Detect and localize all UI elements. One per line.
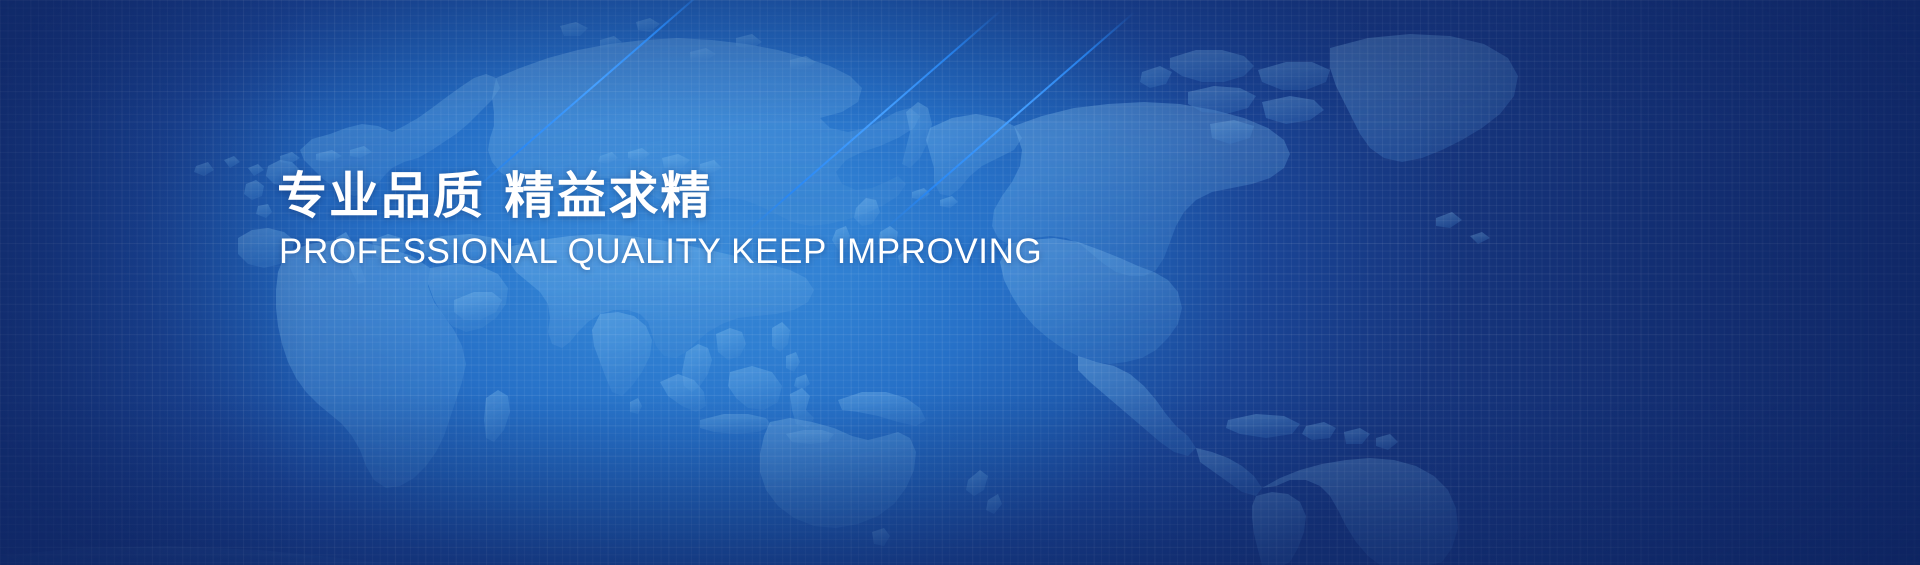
streak-line-1 [472, 0, 707, 192]
banner-copy: 专业品质 精益求精 PROFESSIONAL QUALITY KEEP IMPR… [277, 168, 1042, 269]
banner-headline-zh: 专业品质 精益求精 [277, 168, 1042, 224]
diagonal-streaks [0, 0, 1920, 565]
banner-subheadline-en: PROFESSIONAL QUALITY KEEP IMPROVING [279, 234, 1042, 269]
hero-banner: 专业品质 精益求精 PROFESSIONAL QUALITY KEEP IMPR… [0, 0, 1920, 565]
